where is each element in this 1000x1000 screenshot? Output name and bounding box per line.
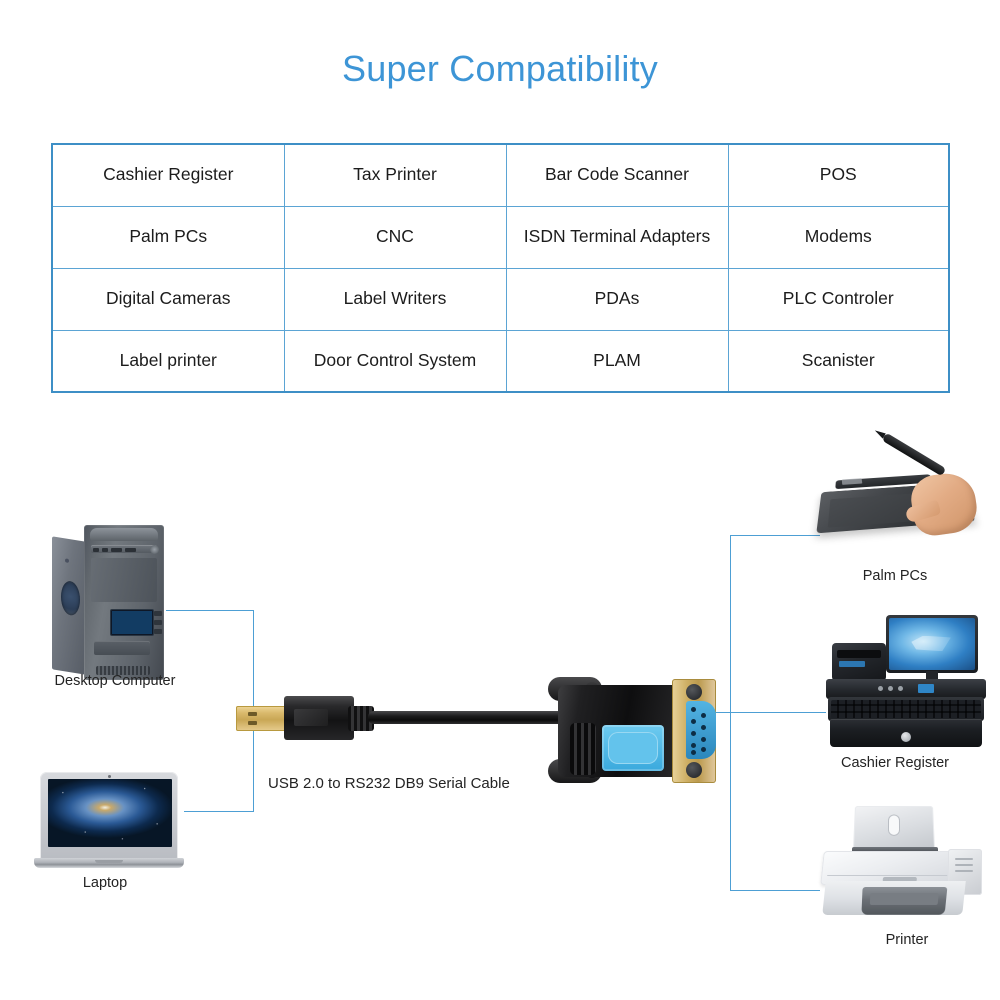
scanner-lid	[820, 851, 956, 885]
table-cell: Label printer	[52, 330, 284, 392]
table-cell: Tax Printer	[284, 144, 506, 206]
control-panel-button	[955, 864, 973, 866]
label-laptop: Laptop	[0, 875, 210, 891]
register-monitor	[886, 615, 978, 673]
table-cell: Digital Cameras	[52, 268, 284, 330]
graphics-tablet-icon	[816, 460, 984, 540]
paper-feed-tray	[853, 806, 935, 849]
db9-pin	[701, 737, 706, 742]
table-cell: ISDN Terminal Adapters	[506, 206, 728, 268]
db9-pin	[691, 731, 696, 736]
tower-side-dot	[65, 558, 69, 563]
tower-blank-panel	[91, 558, 157, 602]
product-infographic: Super Compatibility Cashier Register Tax…	[0, 0, 1000, 1000]
register-button	[888, 686, 893, 691]
tower-side-fan-vent	[61, 580, 80, 617]
table-cell: CNC	[284, 206, 506, 268]
db9-pin-block	[686, 701, 716, 759]
tray-hand-slot	[888, 814, 900, 835]
lcd-button	[154, 629, 162, 634]
cash-register-icon	[826, 615, 986, 747]
db9-pin	[691, 707, 696, 712]
register-deck	[826, 679, 986, 699]
db9-hood	[558, 685, 678, 777]
usb-contact-shell	[236, 706, 288, 731]
table-cell: Door Control System	[284, 330, 506, 392]
receipt-printer-icon	[832, 643, 886, 681]
cash-drawer	[830, 719, 982, 747]
db9-blue-label	[602, 725, 664, 771]
printer-output-tray	[861, 887, 947, 915]
scanner-seam	[827, 875, 947, 876]
table-cell: PLAM	[506, 330, 728, 392]
db9-screw-icon	[686, 684, 702, 700]
table-row: Digital Cameras Label Writers PDAs PLC C…	[52, 268, 949, 330]
audio-port-icon	[125, 548, 136, 552]
connector-line-laptop	[184, 811, 254, 812]
usb-port-icon	[102, 548, 108, 552]
table-cell: Scanister	[728, 330, 949, 392]
connector-line-palm-pcs	[730, 535, 820, 536]
db9-grip-ridges	[570, 723, 596, 775]
tower-lower-bay	[94, 641, 150, 655]
register-button	[898, 686, 903, 691]
table-cell: PLC Controler	[728, 268, 949, 330]
db9-pin	[691, 719, 696, 724]
label-cashier-register: Cashier Register	[790, 755, 1000, 771]
table-cell: Bar Code Scanner	[506, 144, 728, 206]
usb-a-plug-icon	[236, 696, 386, 740]
usb-pin	[248, 712, 257, 716]
keyboard-keys	[831, 700, 981, 718]
register-keyboard	[828, 697, 984, 721]
tower-front-panel	[84, 525, 164, 680]
tower-front-ports	[93, 547, 155, 552]
lcd-button	[154, 611, 162, 616]
label-printer: Printer	[812, 932, 1000, 948]
db9-pin	[701, 747, 706, 752]
db9-pin	[691, 750, 696, 755]
tower-side-panel	[52, 536, 86, 674]
lcd-button	[154, 620, 162, 625]
table-cell: Cashier Register	[52, 144, 284, 206]
table-cell: Label Writers	[284, 268, 506, 330]
table-cell: POS	[728, 144, 949, 206]
laptop-lid-notch	[95, 860, 123, 863]
table-row: Cashier Register Tax Printer Bar Code Sc…	[52, 144, 949, 206]
db9-pin	[691, 743, 696, 748]
power-button-icon	[150, 545, 159, 554]
table-cell: PDAs	[506, 268, 728, 330]
label-palm-pcs: Palm PCs	[800, 568, 990, 584]
tower-lcd-buttons	[154, 611, 162, 634]
register-badge	[918, 684, 934, 693]
drawer-lock-icon	[901, 732, 911, 742]
laptop-icon	[34, 772, 184, 872]
connector-line-desktop	[166, 610, 254, 611]
compatibility-table: Cashier Register Tax Printer Bar Code Sc…	[51, 143, 950, 393]
inkjet-printer-icon	[818, 805, 990, 921]
label-product-name: USB 2.0 to RS232 DB9 Serial Cable	[268, 775, 688, 792]
webcam-icon	[108, 775, 111, 778]
stylus-pen-icon	[882, 433, 947, 477]
register-monitor-screen	[889, 618, 975, 670]
receipt-slot	[837, 650, 881, 658]
laptop-lid	[40, 772, 178, 860]
db9-screw-icon	[686, 762, 702, 778]
table-cell: Modems	[728, 206, 949, 268]
usb-plug-housing	[284, 696, 354, 740]
desktop-tower-icon	[52, 525, 164, 680]
receipt-printer-label	[839, 661, 865, 667]
table-row: Label printer Door Control System PLAM S…	[52, 330, 949, 392]
label-desktop-computer: Desktop Computer	[0, 673, 230, 689]
page-title: Super Compatibility	[0, 48, 1000, 90]
connector-line-printer	[730, 890, 820, 891]
db9-pin	[701, 725, 706, 730]
table-cell: Palm PCs	[52, 206, 284, 268]
usb-port-icon	[93, 548, 99, 552]
register-button	[878, 686, 883, 691]
control-panel-button	[955, 858, 973, 860]
tower-lcd-display	[110, 609, 154, 636]
usb-pin	[248, 721, 257, 725]
laptop-screen	[48, 779, 172, 847]
connection-diagram: Desktop Computer Laptop	[0, 420, 1000, 1000]
table-row: Palm PCs CNC ISDN Terminal Adapters Mode…	[52, 206, 949, 268]
control-panel-button	[955, 870, 973, 872]
db9-pin	[701, 713, 706, 718]
audio-port-icon	[111, 548, 122, 552]
tower-top-handle	[90, 528, 158, 541]
